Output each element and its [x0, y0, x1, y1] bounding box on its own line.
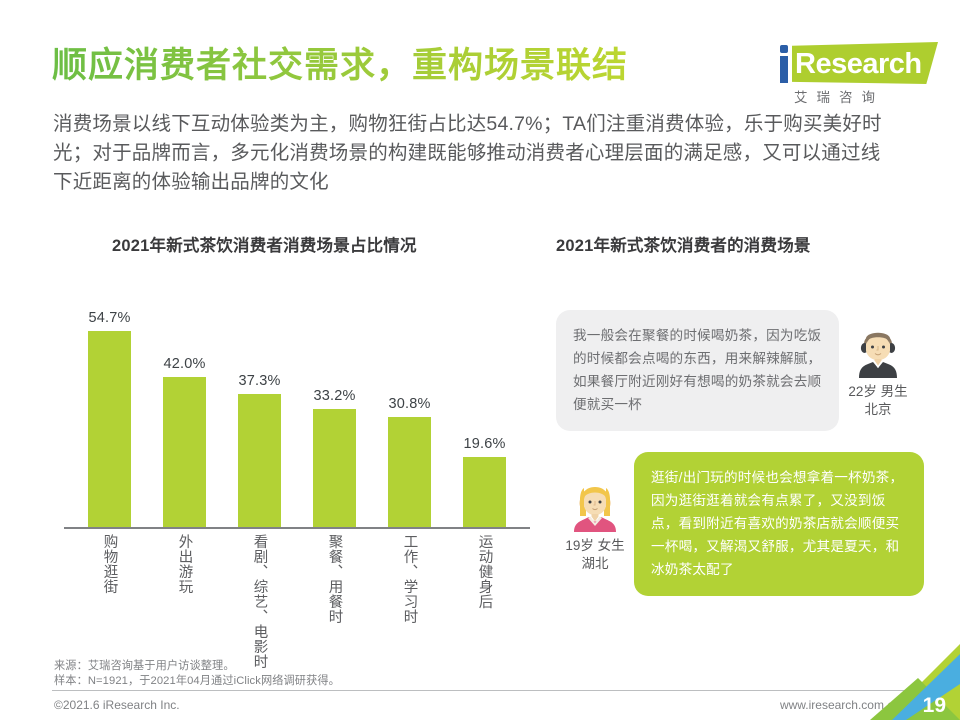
logo-i-dot-icon [780, 45, 788, 53]
logo-wordmark: Research [795, 48, 922, 81]
bar-rect [463, 457, 506, 528]
quote-bubble: 我一般会在聚餐的时候喝奶茶，因为吃饭的时候都会点喝的东西，用来解辣解腻，如果餐厅… [556, 310, 839, 431]
person-location: 北京 [848, 401, 907, 419]
person-location: 湖北 [565, 555, 624, 573]
bar-rect [388, 417, 431, 528]
bar-item: 19.6% [452, 280, 518, 528]
bar-rect [163, 377, 206, 528]
iresearch-logo: Research 艾瑞咨询 [768, 36, 948, 108]
quotes-title: 2021年新式茶饮消费者的消费场景 [556, 232, 811, 256]
category-label: 看剧、综艺、电影时 [251, 534, 269, 654]
copyright-text: ©2021.6 iResearch Inc. [54, 698, 180, 712]
bar-value-label: 30.8% [388, 396, 430, 412]
person-meta: 19岁 女生 湖北 [565, 537, 624, 573]
bar-chart: 54.7% 42.0% 37.3% 33.2% 30.8% 19.6% [72, 280, 522, 530]
bar-value-label: 42.0% [163, 356, 205, 372]
logo-chinese-name: 艾瑞咨询 [794, 86, 884, 106]
bar-item: 42.0% [152, 280, 218, 528]
source-line-2: 样本：N=1921，于2021年04月通过iClick网络调研获得。 [54, 674, 340, 689]
category-label: 运动健身后 [476, 534, 494, 654]
bar-item: 37.3% [227, 280, 293, 528]
category-label: 购物逛街 [101, 534, 119, 654]
person-age-gender: 19岁 女生 [565, 537, 624, 555]
bar-rect [238, 394, 281, 528]
source-note: 来源：艾瑞咨询基于用户访谈整理。 样本：N=1921，于2021年04月通过iC… [54, 659, 340, 688]
source-line-1: 来源：艾瑞咨询基于用户访谈整理。 [54, 659, 340, 674]
bar-series: 54.7% 42.0% 37.3% 33.2% 30.8% 19.6% [72, 280, 522, 528]
female-avatar-icon [569, 476, 621, 532]
bar-rect [313, 409, 356, 528]
quote-block: 我一般会在聚餐的时候喝奶茶，因为吃饭的时候都会点喝的东西，用来解辣解腻，如果餐厅… [556, 310, 946, 431]
category-label-cell: 外出游玩 [152, 534, 218, 654]
chart-title: 2021年新式茶饮消费者消费场景占比情况 [112, 232, 417, 256]
bar-item: 30.8% [377, 280, 443, 528]
bar-value-label: 37.3% [238, 373, 280, 389]
category-label-cell: 聚餐、用餐时 [302, 534, 368, 654]
person-age-gender: 22岁 男生 [848, 383, 907, 401]
quote-block: 19岁 女生 湖北 逛街/出门玩的时候也会想拿着一杯奶茶，因为逛街逛着就会有点累… [556, 452, 946, 596]
category-label-cell: 购物逛街 [77, 534, 143, 654]
bar-item: 33.2% [302, 280, 368, 528]
chart-category-labels: 购物逛街 外出游玩 看剧、综艺、电影时 聚餐、用餐时 工作、学习时 运动健身后 [72, 534, 522, 654]
bar-value-label: 19.6% [463, 436, 505, 452]
category-label: 工作、学习时 [401, 534, 419, 654]
category-label-cell: 工作、学习时 [377, 534, 443, 654]
logo-i-stem-icon [780, 56, 788, 83]
page-title: 顺应消费者社交需求，重构场景联结 [52, 44, 628, 88]
chart-axis-line [64, 527, 530, 529]
bar-value-label: 54.7% [88, 310, 130, 326]
person-meta: 22岁 男生 北京 [848, 383, 907, 419]
category-label-cell: 看剧、综艺、电影时 [227, 534, 293, 654]
footer-divider [52, 690, 912, 691]
category-label: 外出游玩 [176, 534, 194, 654]
bar-value-label: 33.2% [313, 388, 355, 404]
quote-person: 19岁 女生 湖北 [556, 476, 634, 573]
page-subtitle: 消费场景以线下互动体验类为主，购物狂街占比达54.7%；TA们注重消费体验，乐于… [53, 110, 883, 197]
category-label: 聚餐、用餐时 [326, 534, 344, 654]
quote-person: 22岁 男生 北京 [839, 322, 917, 419]
category-label-cell: 运动健身后 [452, 534, 518, 654]
male-avatar-icon [852, 322, 904, 378]
page-number: 19 [923, 694, 946, 718]
bar-item: 54.7% [77, 280, 143, 528]
quote-bubble: 逛街/出门玩的时候也会想拿着一杯奶茶，因为逛街逛着就会有点累了，又没到饭点，看到… [634, 452, 924, 596]
bar-rect [88, 331, 131, 528]
